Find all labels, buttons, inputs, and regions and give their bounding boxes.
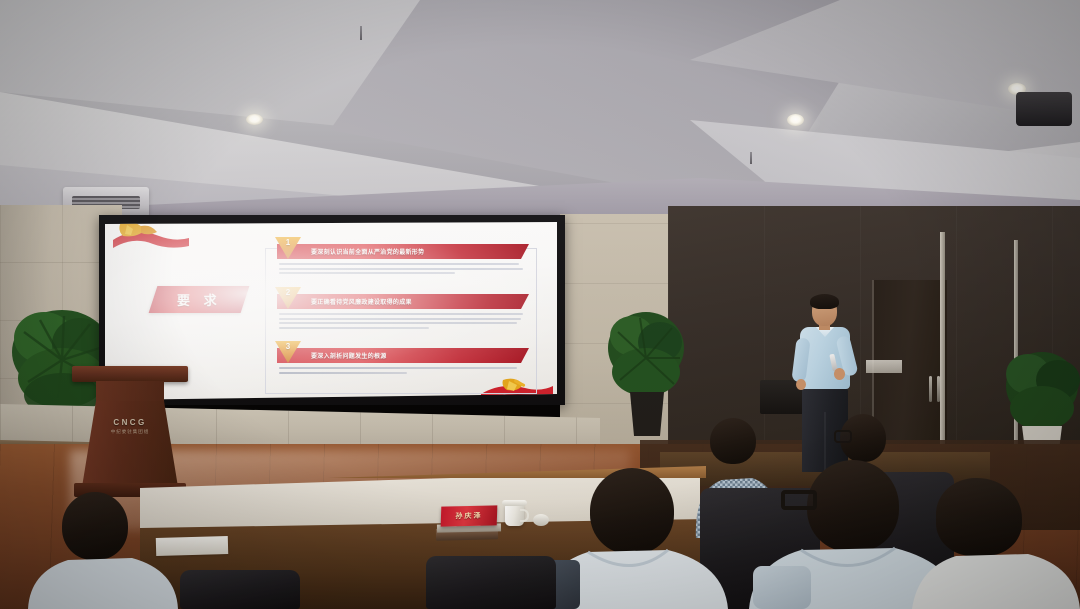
wall-light-patch: [866, 360, 902, 373]
name-plate: 孙庆泽: [441, 505, 498, 526]
forearm: [753, 566, 811, 609]
slide-item-text-block: [279, 313, 523, 329]
slide-item: 要正确看待党风廉政建设取得的成果 2: [255, 294, 537, 329]
torso: [28, 550, 178, 609]
slide-item-text-block: [279, 367, 523, 374]
slide-item-text-block: [279, 263, 523, 274]
audience-member-front-left: [540, 468, 728, 609]
door-frame: [940, 232, 945, 467]
chair[interactable]: [180, 570, 300, 609]
downlight-icon: [246, 114, 263, 125]
name-plate-label: 孙庆泽: [455, 511, 482, 522]
slide-item-bar: 要深入剖析问题发生的根源: [277, 348, 529, 363]
downlight-icon: [787, 114, 804, 126]
teacup: [505, 504, 524, 526]
ceiling: [0, 0, 1080, 232]
slide-item: 要深刻认识当前全面从严治党的最新形势 1: [255, 244, 537, 274]
podium-body: [82, 401, 178, 487]
conference-room-photo: 要 求 要深刻认识当前全面从严治党的最新形势 1 要正确看待党风廉政建设取得的成…: [0, 0, 1080, 609]
torso: [912, 544, 1080, 609]
ceiling-rod: [360, 26, 362, 40]
slide-item-heading: 要深刻认识当前全面从严治党的最新形势: [311, 247, 424, 256]
teacup-lid: [502, 500, 527, 506]
slide-section-label: 要 求: [177, 290, 222, 309]
podium-logo-cn: 中纪委驻集团组: [96, 429, 164, 435]
presenter-hand-right: [834, 368, 845, 380]
slide-item-heading: 要正确看待党风廉政建设取得的成果: [311, 297, 412, 306]
ceiling-rod: [750, 152, 752, 164]
ceiling-speaker-icon: [1016, 92, 1072, 126]
eyeglasses-icon: [834, 430, 852, 443]
podium-logo-en: CNCG: [96, 418, 164, 427]
potted-plant-middle: [606, 296, 686, 446]
podium-neck: [96, 381, 164, 403]
audience-member-front-right: [912, 478, 1080, 609]
slide-item-bar: 要深刻认识当前全面从严治党的最新形势: [277, 244, 529, 259]
party-emblem-ribbon-icon: [111, 222, 191, 254]
podium-logo: CNCG 中纪委驻集团组: [96, 418, 164, 435]
presenter-hair: [810, 294, 839, 309]
slide-section-banner: 要 求: [149, 286, 250, 313]
slide-item: 要深入剖析问题发生的根源 3: [255, 348, 537, 374]
audience-member-front-far-left: [28, 492, 178, 609]
eyeglasses-icon: [781, 490, 817, 510]
presenter-hand-left: [796, 379, 806, 390]
chair[interactable]: [426, 556, 556, 609]
slide-item-heading: 要深入剖析问题发生的根源: [311, 351, 387, 360]
door-handle[interactable]: [929, 376, 932, 402]
podium-top: [72, 366, 188, 382]
slide-item-bar: 要正确看待党风廉政建设取得的成果: [277, 294, 529, 309]
